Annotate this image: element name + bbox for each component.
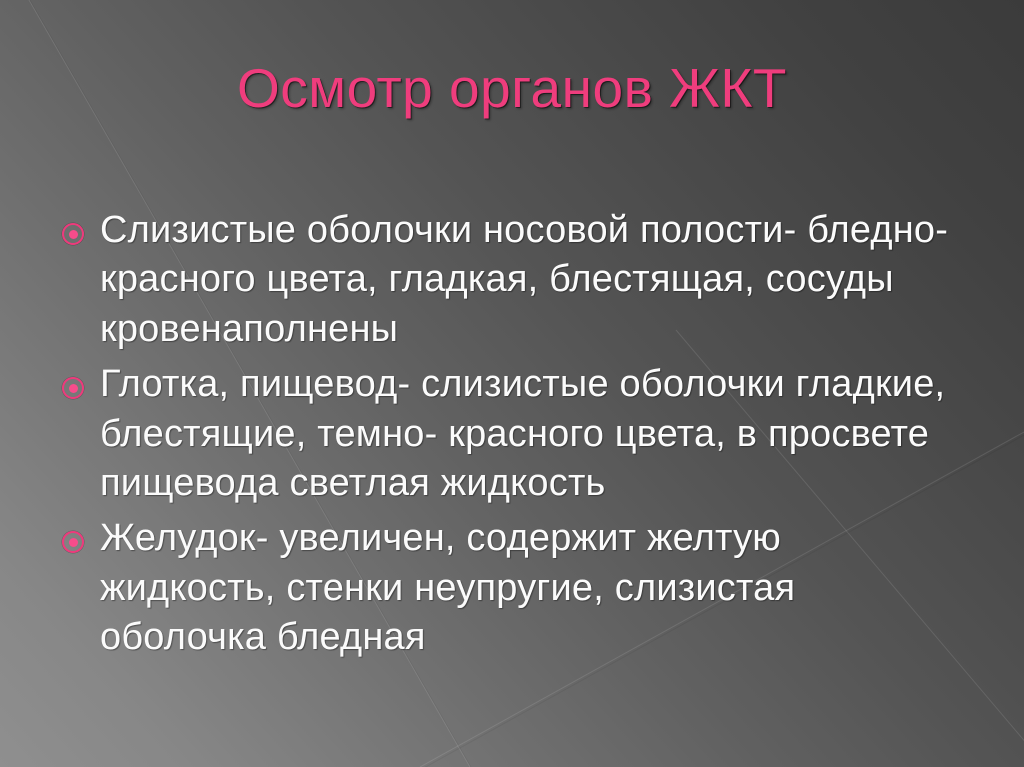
list-item-label: Глотка, пищевод- слизистые оболочки глад… bbox=[100, 360, 967, 508]
ring-dot-bullet-icon bbox=[62, 531, 84, 553]
ring-dot-bullet-icon bbox=[62, 377, 84, 399]
page-title: Осмотр органов ЖКТ bbox=[237, 60, 787, 118]
list-item: Желудок- увеличен, содержит желтую жидко… bbox=[62, 514, 967, 662]
slide-body-bullet-list: Слизистые оболочки носовой полости- блед… bbox=[62, 206, 967, 669]
list-item-label: Слизистые оболочки носовой полости- блед… bbox=[100, 206, 967, 354]
presentation-slide: Осмотр органов ЖКТ Слизистые оболочки но… bbox=[0, 0, 1024, 767]
list-item: Глотка, пищевод- слизистые оболочки глад… bbox=[62, 360, 967, 508]
list-item-label: Желудок- увеличен, содержит желтую жидко… bbox=[100, 514, 967, 662]
ring-dot-bullet-icon bbox=[62, 223, 84, 245]
list-item: Слизистые оболочки носовой полости- блед… bbox=[62, 206, 967, 354]
slide-title-container: Осмотр органов ЖКТ bbox=[0, 60, 1024, 118]
